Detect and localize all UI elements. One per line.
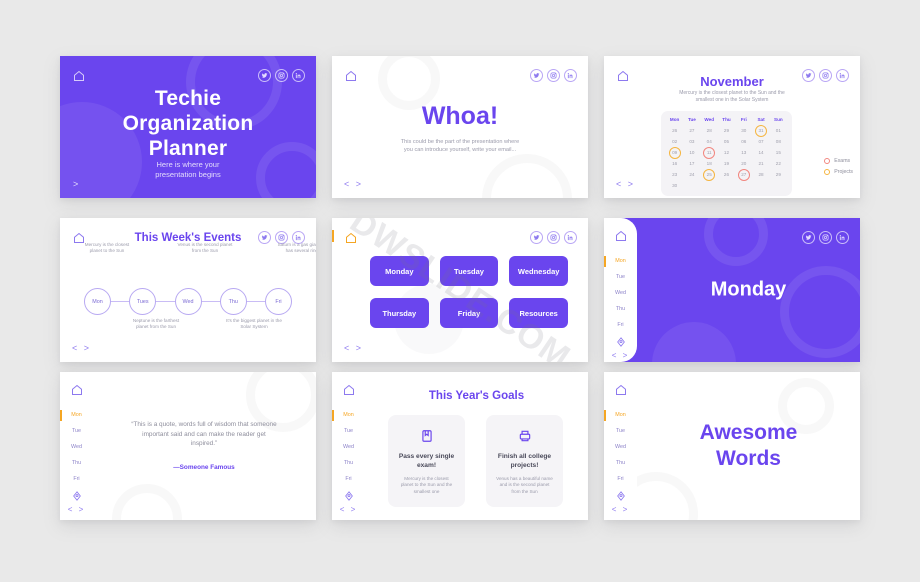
awesome-title: Awesome Words	[637, 420, 860, 472]
calendar-day[interactable]: 08	[770, 136, 787, 147]
calendar-day[interactable]: 29	[718, 125, 735, 136]
instagram-icon[interactable]	[819, 231, 832, 244]
calendar-day[interactable]: 26	[666, 125, 683, 136]
calendar-day-number: 20	[741, 161, 746, 166]
calendar-day[interactable]: 28	[752, 169, 769, 180]
day-rail[interactable]: MonTueWedThuFri < >	[332, 372, 365, 520]
calendar-day[interactable]: 10	[683, 147, 700, 158]
slide-nav-arrows[interactable]: < >	[612, 505, 630, 514]
decorative-circle	[652, 322, 736, 362]
calendar-day[interactable]: 01	[770, 125, 787, 136]
rail-item-tue[interactable]: Tue	[332, 423, 365, 439]
cover-title-line1: Techie	[60, 86, 316, 111]
slide-calendar[interactable]: November Mercury is the closest planet t…	[604, 56, 860, 198]
day-rail[interactable]: MonTueWedThuFri < >	[60, 372, 93, 520]
calendar-day	[752, 180, 769, 191]
calendar-weekday: Sun	[770, 117, 787, 125]
calendar-day-number: 29	[776, 172, 781, 177]
calendar-day-number: 23	[672, 172, 677, 177]
calendar-day-number: 29	[724, 128, 729, 133]
calendar-subtitle-line2: smallest one in the Solar System	[656, 97, 808, 104]
whoa-subtitle-line1: This could be the part of the presentati…	[378, 138, 542, 146]
rail-item-tue[interactable]: Tue	[60, 423, 93, 439]
timeline-caption: Mercury is the closest planet to the Sun	[78, 242, 136, 254]
calendar-day[interactable]: 27	[735, 169, 752, 180]
calendar-subtitle-line1: Mercury is the closest planet to the Sun…	[656, 90, 808, 97]
slide-deck-overview: Techie Organization Planner Here is wher…	[0, 0, 920, 582]
cover-subtitle-line1: Here is where your	[60, 160, 316, 170]
cover-title: Techie Organization Planner	[60, 86, 316, 161]
calendar-day-number: 22	[776, 161, 781, 166]
calendar-day-number: 03	[689, 139, 694, 144]
calendar-day[interactable]: 28	[701, 125, 718, 136]
calendar-day-number: 21	[759, 161, 764, 166]
slide-cover[interactable]: Techie Organization Planner Here is wher…	[60, 56, 316, 198]
rail-item-mon[interactable]: Mon	[332, 407, 365, 423]
timeline-caption: It's the biggest planet in the Solar Sys…	[225, 318, 283, 330]
day-button[interactable]: Thursday	[370, 298, 429, 328]
day-button-grid[interactable]: MondayTuesdayWednesdayThursdayFridayReso…	[370, 256, 568, 328]
cover-title-line2: Organization	[60, 111, 316, 136]
day-rail[interactable]: MonTueWedThuFri < >	[604, 218, 637, 362]
home-icon[interactable]	[345, 70, 357, 82]
calendar-day-number: 13	[741, 150, 746, 155]
rail-item-fri[interactable]: Fri	[332, 471, 365, 487]
calendar-day-number: 08	[776, 139, 781, 144]
calendar-day-number: 27	[741, 172, 746, 177]
goal-cards[interactable]: Pass every single exam!Mercury is the cl…	[388, 415, 563, 507]
timeline-node[interactable]: Tues	[129, 288, 156, 315]
home-icon[interactable]	[71, 384, 83, 396]
active-tab-indicator	[332, 230, 334, 242]
home-icon[interactable]	[73, 70, 85, 82]
calendar-day-number: 11	[707, 150, 712, 155]
slide-nav-arrows[interactable]: < >	[344, 179, 363, 189]
calendar-day[interactable]: 04	[701, 136, 718, 147]
calendar-day[interactable]: 03	[683, 136, 700, 147]
timeline-node[interactable]: Thu	[220, 288, 247, 315]
day-rail[interactable]: MonTueWedThuFri < >	[604, 372, 637, 520]
location-pin-icon[interactable]	[616, 491, 626, 501]
whoa-subtitle: This could be the part of the presentati…	[378, 138, 542, 154]
calendar-weekday: Thu	[718, 117, 735, 125]
calendar-day-number: 26	[724, 172, 729, 177]
day-button[interactable]: Tuesday	[440, 256, 499, 286]
slide-goals[interactable]: MonTueWedThuFri < > This Year's Goals Pa…	[332, 372, 588, 520]
calendar-day[interactable]: 23	[666, 169, 683, 180]
calendar-day[interactable]: 26	[718, 169, 735, 180]
calendar-days-grid[interactable]: 2627282930310102030405060708091011121314…	[666, 125, 787, 191]
calendar-day-number: 02	[672, 139, 677, 144]
instagram-icon[interactable]	[547, 231, 560, 244]
legend-label: Projects	[834, 169, 853, 175]
calendar-day[interactable]: 27	[683, 125, 700, 136]
calendar-day-number: 18	[707, 161, 712, 166]
timeline-caption: Saturn is a gas giant and has several ri…	[274, 242, 316, 254]
slide-nav-arrows[interactable]: < >	[68, 505, 86, 514]
calendar-subtitle: Mercury is the closest planet to the Sun…	[656, 90, 808, 104]
legend-label: Exams	[834, 158, 850, 164]
calendar-day-number: 05	[724, 139, 729, 144]
home-icon[interactable]	[615, 384, 627, 396]
rail-item-wed[interactable]: Wed	[332, 439, 365, 455]
rail-item-mon[interactable]: Mon	[604, 407, 637, 423]
calendar-day[interactable]: 14	[752, 147, 769, 158]
calendar-title: November	[604, 74, 860, 89]
events-timeline: MonTuesWedThuFri Mercury is the closest …	[84, 270, 292, 334]
rail-item-mon[interactable]: Mon	[604, 253, 637, 269]
cover-title-line3: Planner	[60, 136, 316, 161]
day-button[interactable]: Wednesday	[509, 256, 568, 286]
calendar-day-number: 04	[707, 139, 712, 144]
calendar-day	[735, 180, 752, 191]
calendar-day-number: 28	[759, 172, 764, 177]
location-pin-icon[interactable]	[344, 491, 354, 501]
calendar-day-number: 27	[689, 128, 694, 133]
calendar-day[interactable]: 22	[770, 158, 787, 169]
twitter-icon[interactable]	[530, 69, 543, 82]
calendar-day[interactable]: 30	[666, 180, 683, 191]
calendar-day-number: 06	[741, 139, 746, 144]
linkedin-icon[interactable]	[292, 69, 305, 82]
rail-item-wed[interactable]: Wed	[604, 439, 637, 455]
rail-item-thu[interactable]: Thu	[604, 455, 637, 471]
goal-card-body: Venus has a beautiful name and is the se…	[496, 476, 553, 495]
calendar-day	[701, 180, 718, 191]
instagram-icon[interactable]	[547, 69, 560, 82]
decorative-ring	[112, 484, 182, 520]
calendar-day-number: 28	[707, 128, 712, 133]
calendar-day[interactable]: 18	[701, 158, 718, 169]
calendar-day[interactable]: 31	[752, 125, 769, 136]
calendar-day-number: 07	[759, 139, 764, 144]
calendar-day-number: 30	[741, 128, 746, 133]
calendar-day[interactable]: 05	[718, 136, 735, 147]
rail-item-fri[interactable]: Fri	[604, 471, 637, 487]
rail-item-mon[interactable]: Mon	[60, 407, 93, 423]
slide-awesome-words[interactable]: MonTueWedThuFri < > Awesome Words	[604, 372, 860, 520]
slide-day-buttons[interactable]: MondayTuesdayWednesdayThursdayFridayReso…	[332, 218, 588, 362]
rail-items[interactable]: MonTueWedThuFri	[604, 407, 637, 487]
calendar-weekday: Tue	[683, 117, 700, 125]
timeline-node[interactable]: Wed	[175, 288, 202, 315]
slide-whoa[interactable]: Whoa! This could be the part of the pres…	[332, 56, 588, 198]
calendar-day[interactable]: 25	[701, 169, 718, 180]
legend-dot-icon	[824, 169, 830, 175]
day-button[interactable]: Friday	[440, 298, 499, 328]
home-icon[interactable]	[615, 230, 627, 242]
social-links	[530, 69, 577, 82]
linkedin-icon[interactable]	[836, 231, 849, 244]
twitter-icon[interactable]	[530, 231, 543, 244]
whoa-title: Whoa!	[332, 102, 588, 131]
rail-items[interactable]: MonTueWedThuFri	[332, 407, 365, 487]
twitter-icon[interactable]	[802, 231, 815, 244]
instagram-icon[interactable]	[275, 69, 288, 82]
social-links	[802, 231, 849, 244]
calendar-day-number: 19	[724, 161, 729, 166]
timeline-node[interactable]: Fri	[265, 288, 292, 315]
timeline-node[interactable]: Mon	[84, 288, 111, 315]
cover-subtitle-line2: presentation begins	[60, 170, 316, 180]
goal-card[interactable]: Finish all college projects!Venus has a …	[486, 415, 563, 507]
quote-text: “This is a quote, words full of wisdom t…	[130, 420, 278, 449]
cover-subtitle: Here is where your presentation begins	[60, 160, 316, 180]
timeline-nodes[interactable]: MonTuesWedThuFri	[84, 288, 292, 315]
rail-item-fri[interactable]: Fri	[60, 471, 93, 487]
legend-item: Projects	[824, 169, 853, 175]
calendar-weekday-header: MonTueWedThuFriSatSun	[666, 117, 787, 125]
calendar-day[interactable]: 24	[683, 169, 700, 180]
calendar-day	[683, 180, 700, 191]
calendar-day	[718, 180, 735, 191]
calendar-day[interactable]: 12	[718, 147, 735, 158]
calendar-day-number: 12	[724, 150, 729, 155]
calendar-day-number: 24	[689, 172, 694, 177]
slide-nav-arrows[interactable]: < >	[612, 351, 630, 360]
calendar-day-number: 17	[689, 161, 694, 166]
slide-weeks-events[interactable]: This Week's Events MonTuesWedThuFri Merc…	[60, 218, 316, 362]
calendar-weekday: Mon	[666, 117, 683, 125]
day-button[interactable]: Resources	[509, 298, 568, 328]
home-icon[interactable]	[345, 232, 357, 244]
calendar-day[interactable]: 11	[701, 147, 718, 158]
calendar-day[interactable]: 13	[735, 147, 752, 158]
awesome-title-line1: Awesome	[637, 420, 860, 446]
slide-quote[interactable]: MonTueWedThuFri < > “This is a quote, wo…	[60, 372, 316, 520]
rail-item-tue[interactable]: Tue	[604, 269, 637, 285]
calendar-widget[interactable]: MonTueWedThuFriSatSun 262728293031010203…	[661, 111, 792, 196]
rail-item-thu[interactable]: Thu	[604, 301, 637, 317]
rail-items[interactable]: MonTueWedThuFri	[60, 407, 93, 487]
calendar-day[interactable]: 21	[752, 158, 769, 169]
slide-nav-arrows[interactable]: < >	[340, 505, 358, 514]
printer-icon	[518, 429, 532, 443]
goal-card-heading: Pass every single exam!	[398, 452, 455, 470]
calendar-day[interactable]: 16	[666, 158, 683, 169]
monday-title: Monday	[637, 279, 860, 302]
decorative-ring	[482, 154, 572, 198]
slide-nav-arrows[interactable]: < >	[616, 179, 635, 189]
rail-items[interactable]: MonTueWedThuFri	[604, 253, 637, 333]
calendar-day-number: 25	[707, 172, 712, 177]
decorative-ring	[704, 218, 768, 266]
calendar-day-number: 26	[672, 128, 677, 133]
goal-card-body: Mercury is the closest planet to the Sun…	[398, 476, 455, 495]
social-links	[258, 69, 305, 82]
rail-item-thu[interactable]: Thu	[60, 455, 93, 471]
calendar-day-number: 30	[672, 183, 677, 188]
linkedin-icon[interactable]	[564, 69, 577, 82]
calendar-day-number: 10	[689, 150, 694, 155]
calendar-day-number: 31	[759, 128, 764, 133]
quote-author: —Someone Famous	[130, 464, 278, 471]
calendar-weekday: Fri	[735, 117, 752, 125]
calendar-day[interactable]: 06	[735, 136, 752, 147]
home-icon[interactable]	[343, 384, 355, 396]
slide-nav-arrows[interactable]: < >	[344, 343, 363, 353]
calendar-day[interactable]: 29	[770, 169, 787, 180]
rail-item-wed[interactable]: Wed	[60, 439, 93, 455]
rail-item-thu[interactable]: Thu	[332, 455, 365, 471]
day-button[interactable]: Monday	[370, 256, 429, 286]
timeline-caption: Neptune is the farthest planet from the …	[127, 318, 185, 330]
calendar-day[interactable]: 20	[735, 158, 752, 169]
rail-item-fri[interactable]: Fri	[604, 317, 637, 333]
goal-card-heading: Finish all college projects!	[496, 452, 553, 470]
calendar-day[interactable]: 15	[770, 147, 787, 158]
calendar-day-number: 16	[672, 161, 677, 166]
rail-item-wed[interactable]: Wed	[604, 285, 637, 301]
calendar-day[interactable]: 17	[683, 158, 700, 169]
linkedin-icon[interactable]	[564, 231, 577, 244]
whoa-subtitle-line2: you can introduce yourself, write your e…	[378, 146, 542, 154]
calendar-day-number: 14	[759, 150, 764, 155]
slide-nav-arrows[interactable]: < >	[72, 343, 91, 353]
calendar-day[interactable]: 30	[735, 125, 752, 136]
slide-monday[interactable]: MonTueWedThuFri < > Monday	[604, 218, 860, 362]
legend-dot-icon	[824, 158, 830, 164]
rail-item-tue[interactable]: Tue	[604, 423, 637, 439]
book-icon	[420, 429, 434, 443]
calendar-day-number: 15	[776, 150, 781, 155]
calendar-legend: ExamsProjects	[824, 158, 853, 180]
calendar-day-number: 01	[776, 128, 781, 133]
goals-title: This Year's Goals	[365, 390, 588, 402]
goal-card[interactable]: Pass every single exam!Mercury is the cl…	[388, 415, 465, 507]
calendar-day[interactable]: 09	[666, 147, 683, 158]
timeline-caption: Venus is the second planet from the Sun	[176, 242, 234, 254]
location-pin-icon[interactable]	[72, 491, 82, 501]
legend-item: Exams	[824, 158, 853, 164]
calendar-day[interactable]: 19	[718, 158, 735, 169]
calendar-day[interactable]: 07	[752, 136, 769, 147]
calendar-day-number: 09	[672, 150, 677, 155]
calendar-day[interactable]: 02	[666, 136, 683, 147]
twitter-icon[interactable]	[258, 69, 271, 82]
location-pin-icon[interactable]	[616, 337, 626, 347]
calendar-weekday: Wed	[701, 117, 718, 125]
awesome-title-line2: Words	[637, 446, 860, 472]
social-links	[530, 231, 577, 244]
next-arrow[interactable]: >	[73, 179, 78, 189]
calendar-day	[770, 180, 787, 191]
